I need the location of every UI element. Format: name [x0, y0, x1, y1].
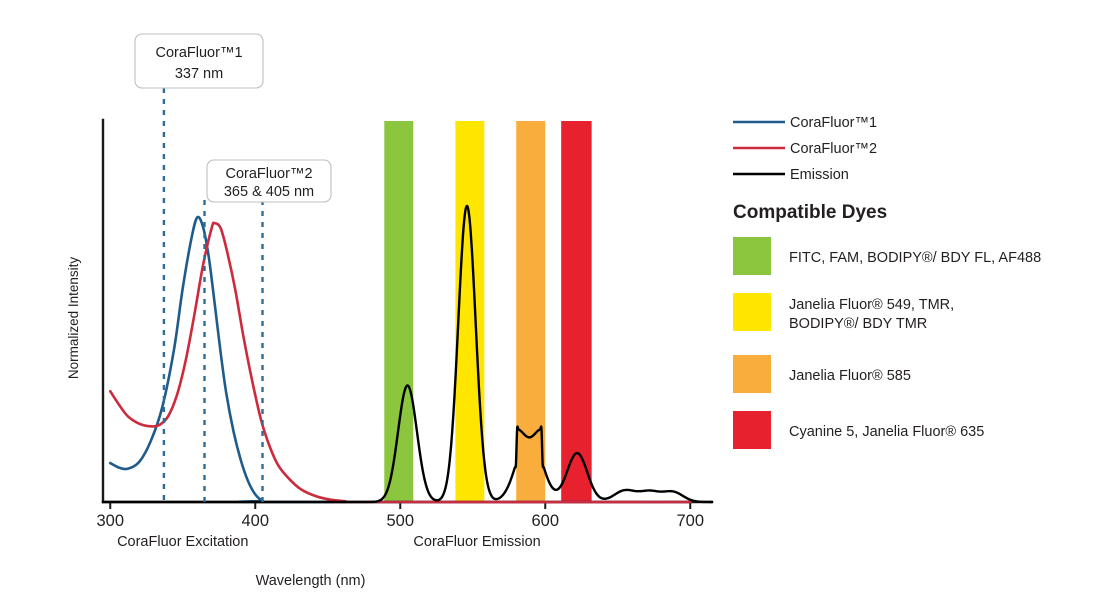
x-tick-label: 300 [96, 512, 124, 530]
dye-color-swatch [733, 237, 771, 275]
spectra-figure: 300400500600700 CoraFluor™1337 nmCoraFlu… [0, 0, 1110, 612]
dye-label: FITC, FAM, BODIPY®/ BDY FL, AF488 [789, 250, 1041, 266]
x-axis-ticks: 300400500600700 [96, 502, 704, 530]
dye-color-swatch [733, 293, 771, 331]
legend-series-label: CoraFluor™1 [790, 115, 877, 131]
x-axis-title: Wavelength (nm) [256, 573, 366, 589]
compatible-dyes-heading: Compatible Dyes [733, 202, 887, 223]
dye-label: Janelia Fluor® 585 [789, 368, 911, 384]
x-tick-label: 700 [676, 512, 704, 530]
dye-color-swatch [733, 355, 771, 393]
callout-wavelengths: 365 & 405 nm [224, 184, 314, 200]
dye-label: BODIPY®/ BDY TMR [789, 316, 927, 332]
x-tick-label: 600 [531, 512, 559, 530]
callout-title: CoraFluor™2 [225, 166, 312, 182]
dye-color-swatch [733, 411, 771, 449]
channel-bands-group [384, 121, 591, 502]
legend: CoraFluor™1CoraFluor™2EmissionCompatible… [733, 115, 1041, 449]
region-label: CoraFluor Emission [413, 534, 540, 550]
y-axis-title: Normalized Intensity [66, 257, 81, 380]
region-label: CoraFluor Excitation [117, 534, 248, 550]
callout-title: CoraFluor™1 [155, 45, 242, 61]
dye-label: Janelia Fluor® 549, TMR, [789, 297, 954, 313]
x-tick-label: 400 [241, 512, 269, 530]
green-band [384, 121, 413, 502]
legend-series-label: Emission [790, 167, 849, 183]
legend-series-label: CoraFluor™2 [790, 141, 877, 157]
x-tick-label: 500 [386, 512, 414, 530]
dye-label: Cyanine 5, Janelia Fluor® 635 [789, 424, 984, 440]
red-band [561, 121, 591, 502]
callout-wavelengths: 337 nm [175, 66, 223, 82]
